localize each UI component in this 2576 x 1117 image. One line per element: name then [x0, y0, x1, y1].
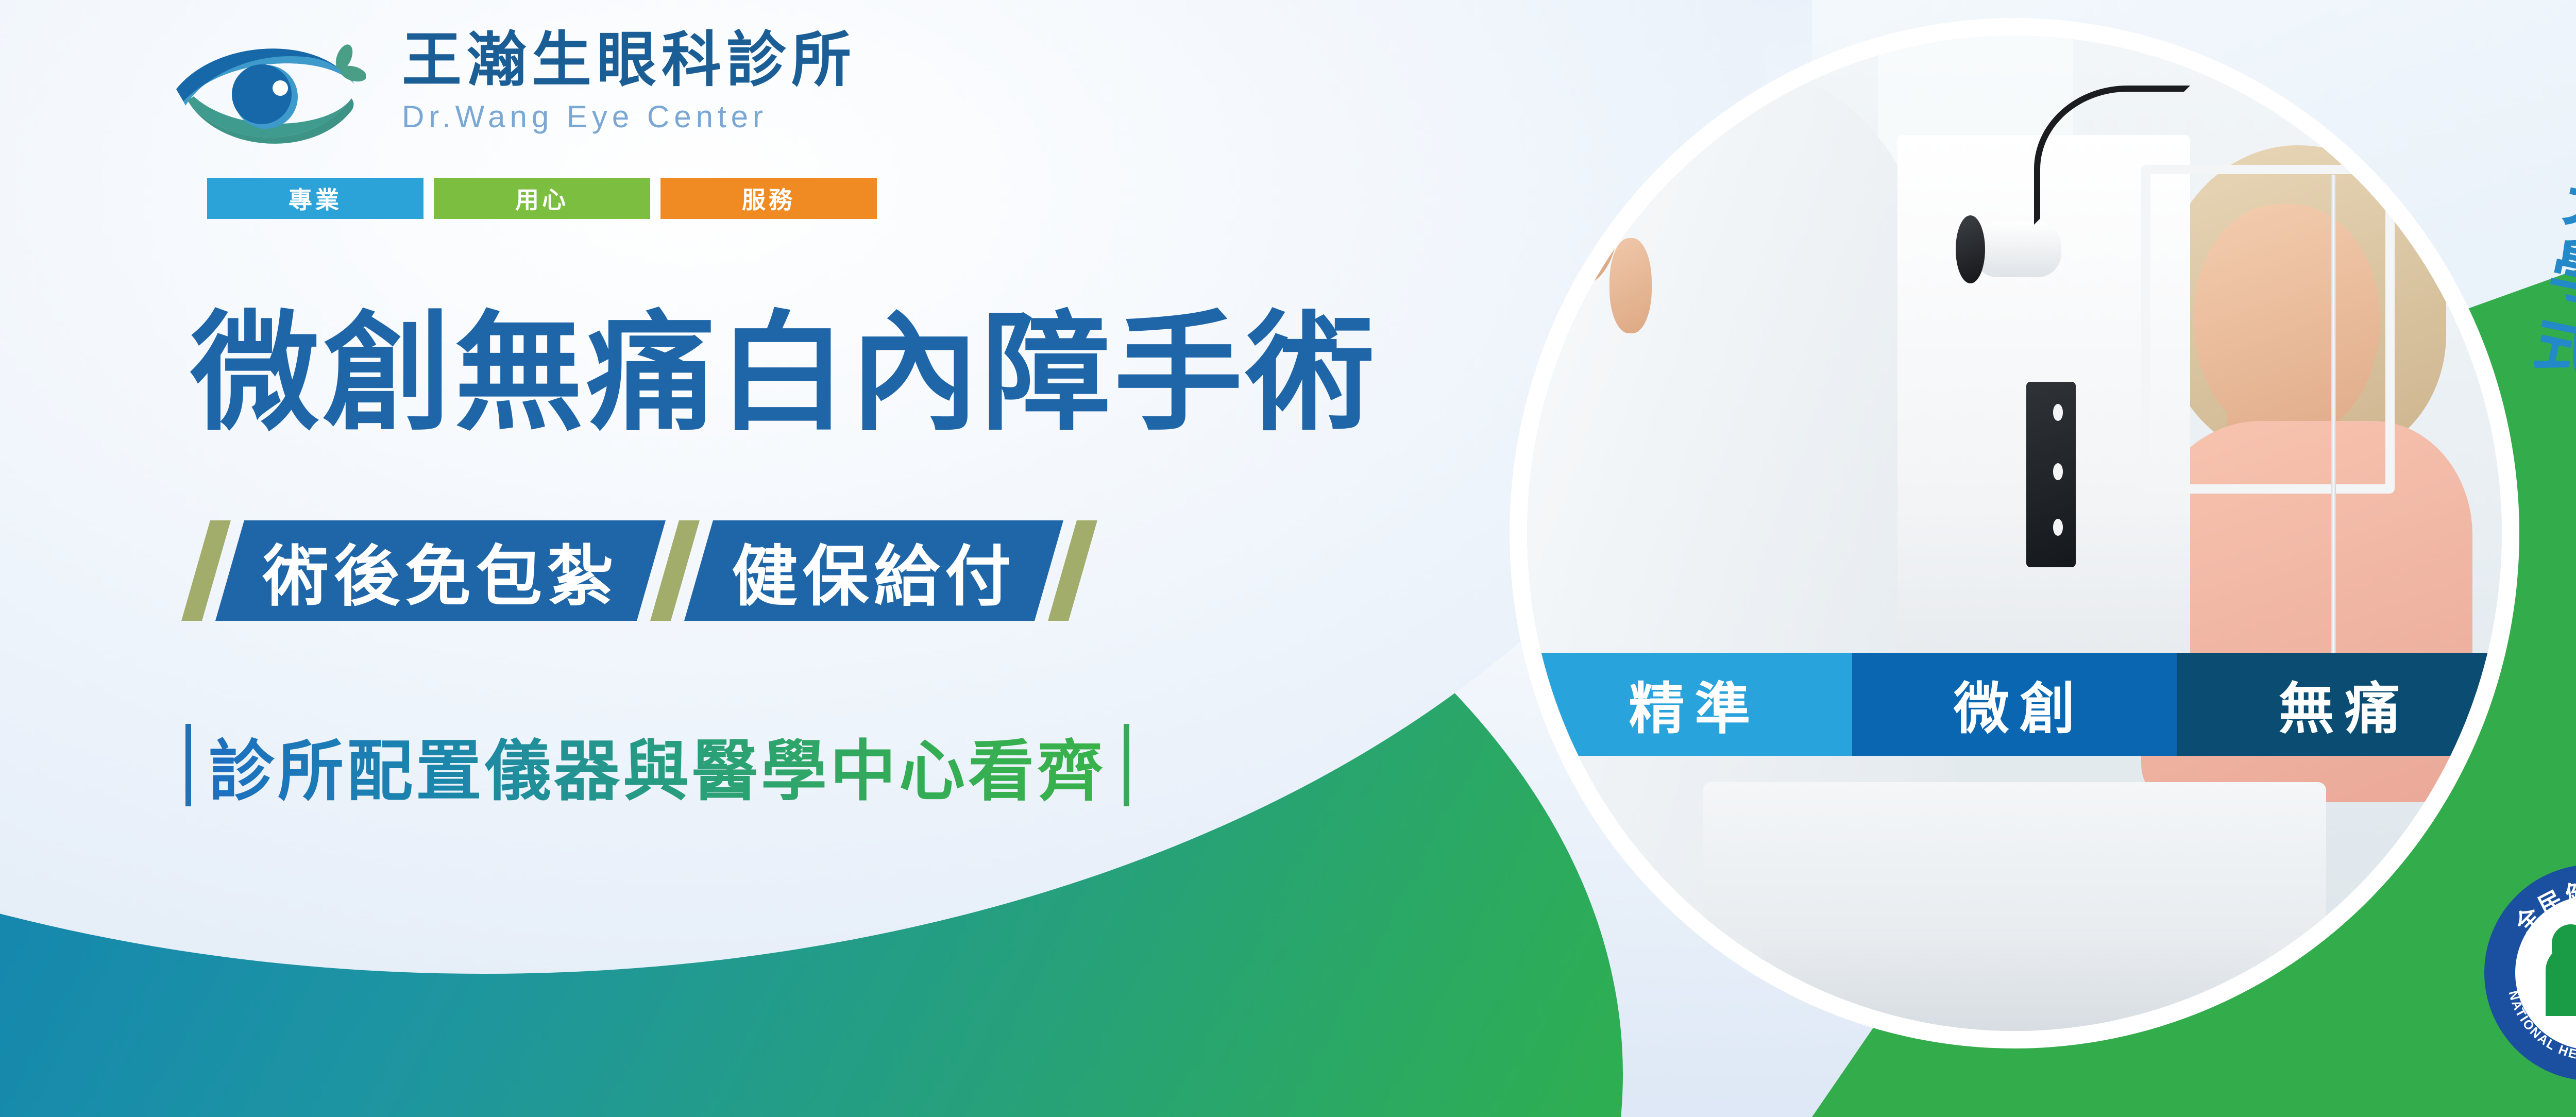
page-title: 微創無痛白內障手術 [191, 309, 1378, 438]
clinic-logo[interactable]: 王瀚生眼科診所 Dr.Wang Eye Center 專業 用心 服務 [170, 23, 902, 198]
photo-chin-rest [2141, 165, 2395, 494]
nhi-badge-inner [2515, 895, 2576, 1050]
tab-professional[interactable]: 專業 [207, 178, 423, 219]
nhi-people-icon [2538, 921, 2576, 1024]
tagline-row: 診所配置儀器與醫學中心看齊 [185, 716, 1129, 814]
feature-badge-row: 術後免包紮 健保給付 [196, 520, 1096, 621]
photo-doctor-hand [1609, 238, 1652, 333]
photo-doctor-head [1530, 123, 1619, 285]
brand-value-tabs: 專業 用心 服務 [207, 178, 877, 219]
brand-name-en: Dr.Wang Eye Center [402, 99, 856, 134]
tab-dedication[interactable]: 用心 [434, 178, 650, 219]
badge-insurance-covered-label: 健保給付 [732, 523, 1016, 618]
photo-table-base [1761, 932, 2268, 1031]
photo-lamp-dot [2053, 519, 2063, 535]
photo-tag-painless: 無痛 [2177, 653, 2502, 756]
brand-name-cn: 王瀚生眼科診所 [402, 28, 856, 92]
photo-support-rod [2331, 175, 2336, 712]
brand-text-group: 王瀚生眼科診所 Dr.Wang Eye Center [402, 28, 856, 134]
tagline-rule-left [185, 724, 191, 806]
photo-lamp-housing [2026, 382, 2076, 567]
clinic-promo-banner: 王瀚生眼科診所 Dr.Wang Eye Center 專業 用心 服務 微創無痛… [0, 0, 2576, 1117]
eye-examination-photo: 精準 微創 無痛 [1527, 36, 2502, 1031]
photo-tag-precise: 精準 [1527, 653, 1852, 756]
tagline-rule-right [1124, 724, 1129, 806]
photo-eyepiece [1956, 215, 1985, 283]
photo-circle-frame: 精準 微創 無痛 [1510, 18, 2519, 1048]
photo-lamp-dot [2053, 404, 2063, 420]
badge-insurance-covered: 健保給付 [684, 520, 1063, 621]
photo-scope-barrel [1974, 222, 2061, 277]
photo-lamp-dot [2053, 463, 2063, 480]
eye-logo-icon [170, 28, 366, 178]
photo-feature-tags: 精準 微創 無痛 [1527, 653, 2502, 756]
tagline-text: 診所配置儀器與醫學中心看齊 [209, 718, 1106, 813]
badge-no-bandage: 術後免包紮 [215, 520, 666, 621]
photo-tag-minimally-invasive: 微創 [1852, 653, 2177, 756]
tab-service[interactable]: 服務 [660, 178, 877, 219]
badge-no-bandage-label: 術後免包紮 [263, 523, 618, 618]
